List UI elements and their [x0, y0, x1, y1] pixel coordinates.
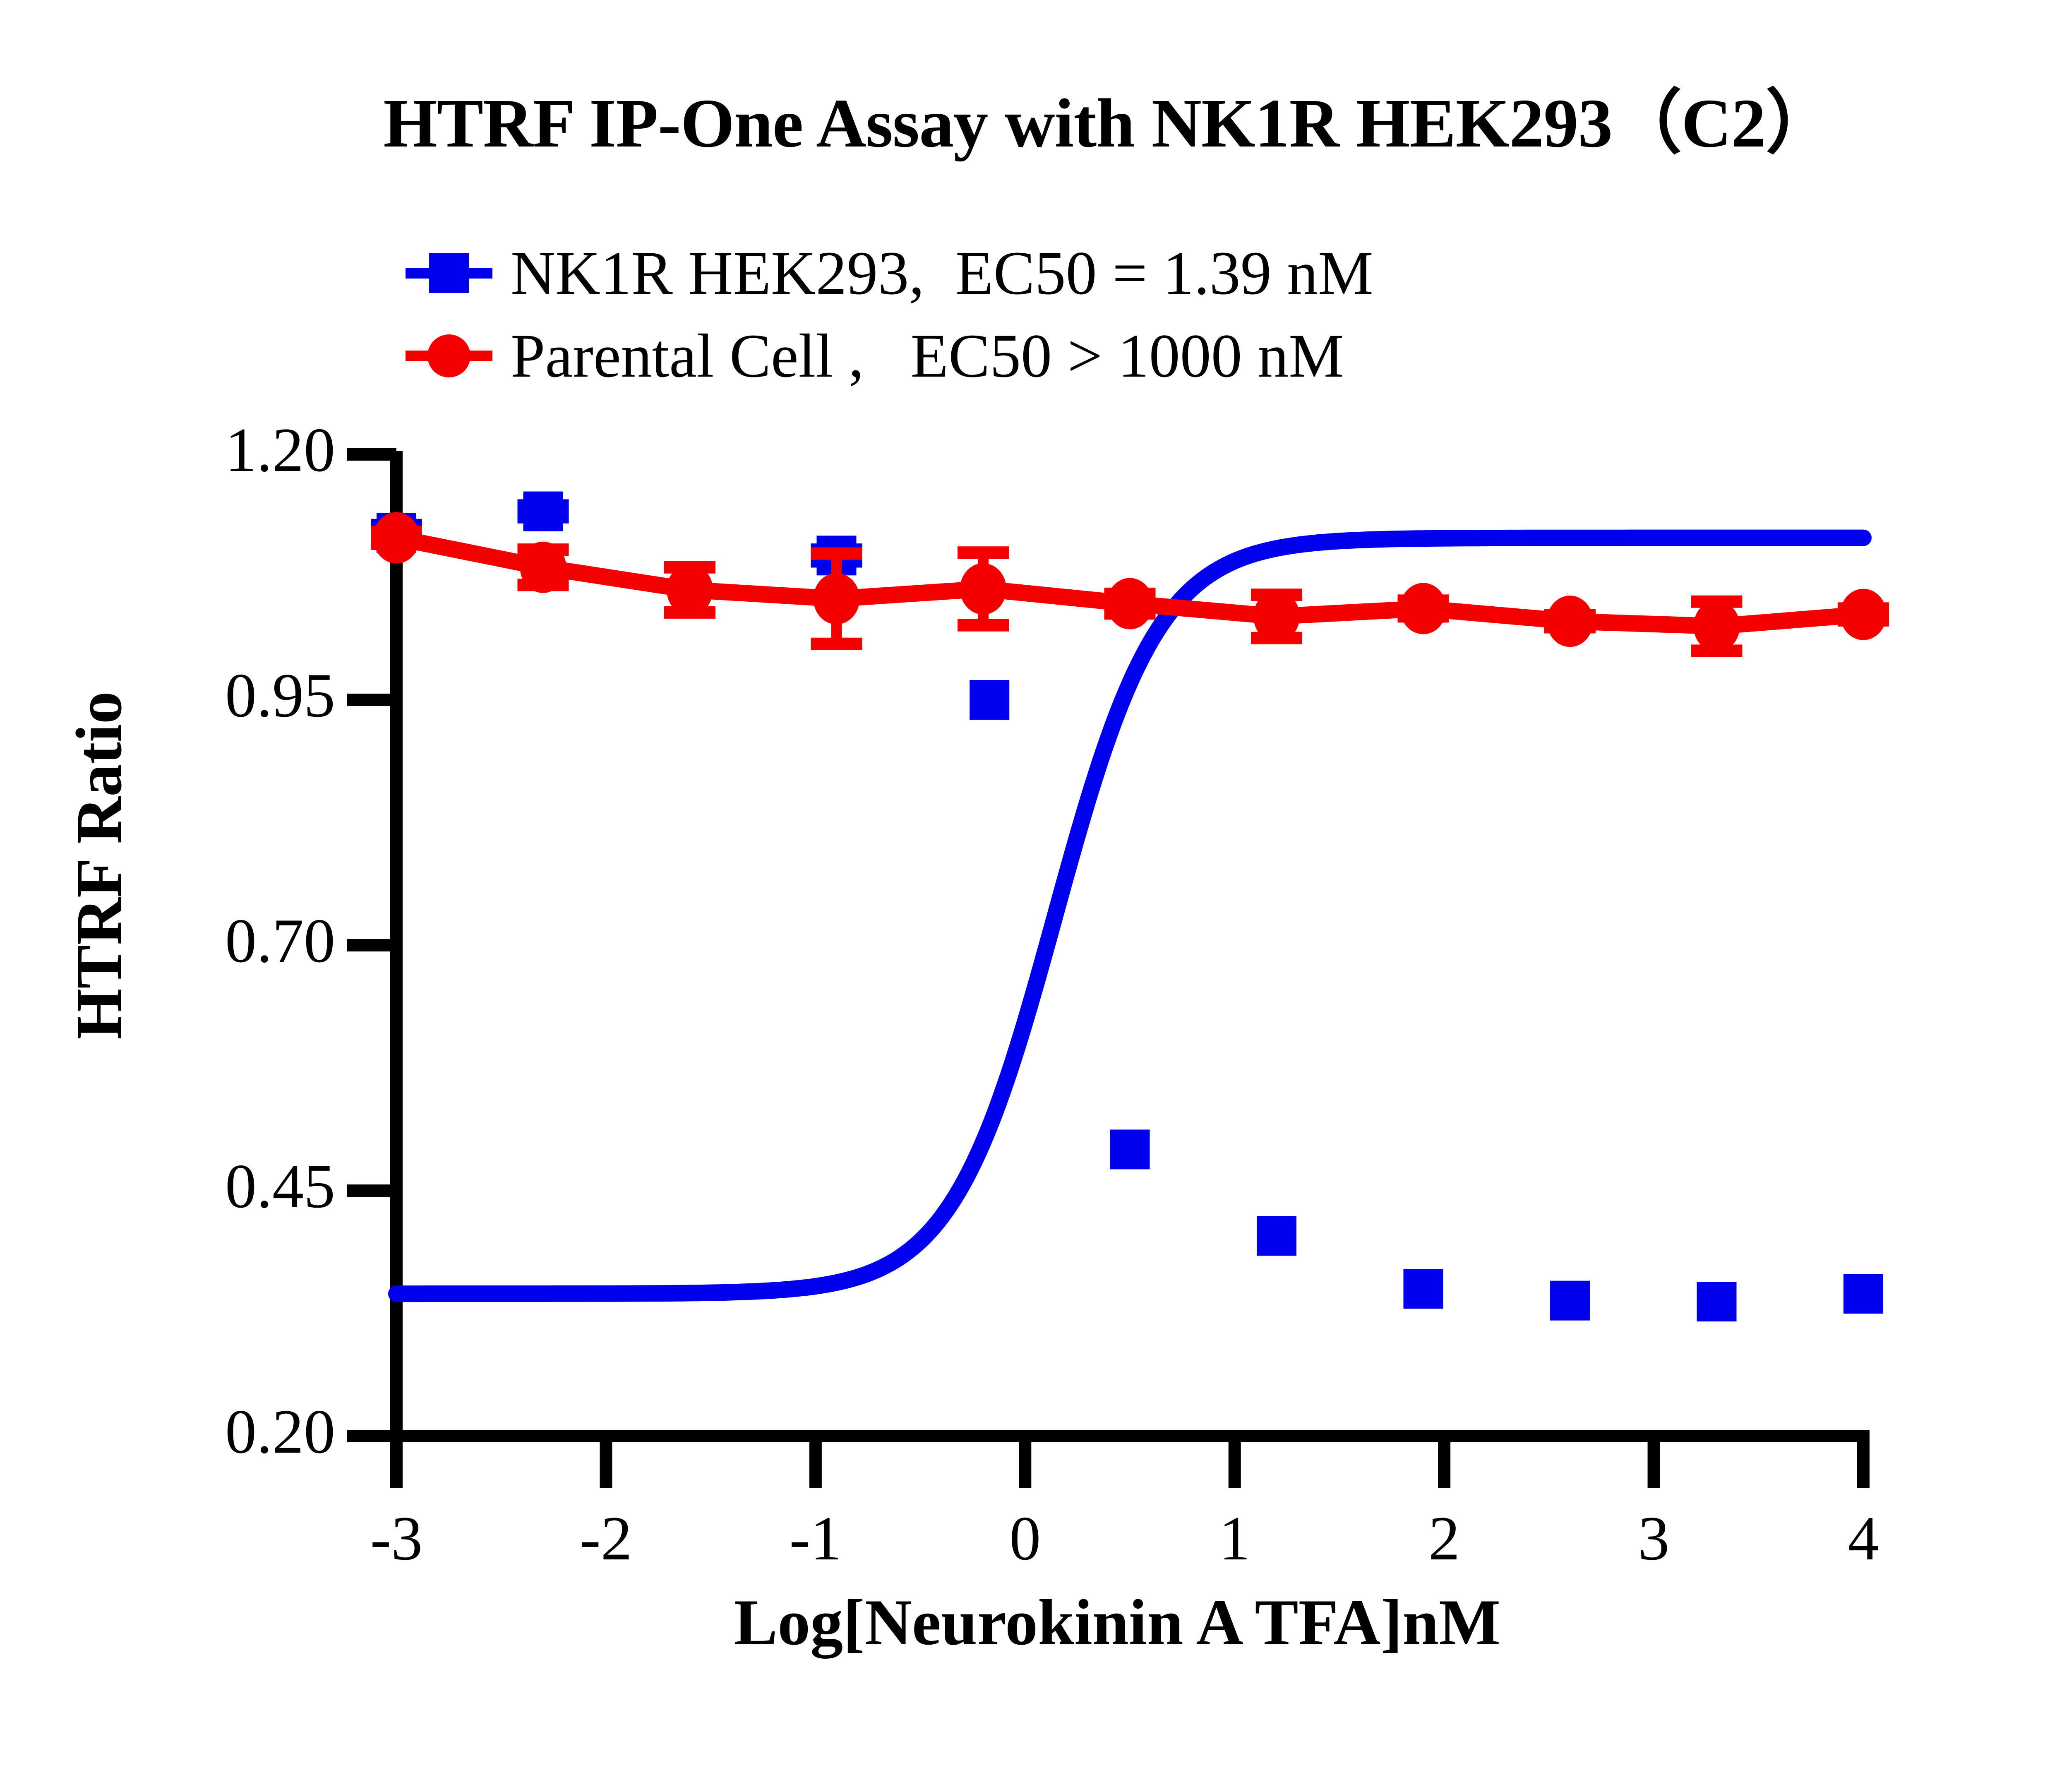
x-tick-label: -1 — [774, 1502, 857, 1574]
y-tick-label: 0.20 — [161, 1396, 335, 1468]
y-axis-title: HTRF Ratio — [62, 534, 137, 1196]
x-axis-ticks — [396, 1436, 1863, 1488]
x-tick-label: 1 — [1193, 1502, 1276, 1574]
x-tick-label: 0 — [984, 1502, 1066, 1574]
data-point-marker[interactable] — [1400, 583, 1447, 634]
data-point-marker[interactable] — [1107, 578, 1153, 629]
data-point-marker[interactable] — [1840, 589, 1887, 640]
data-point-marker[interactable] — [373, 512, 420, 564]
y-tick-label: 0.95 — [161, 659, 335, 731]
data-point-marker[interactable] — [1404, 1269, 1443, 1309]
data-point-marker[interactable] — [667, 564, 713, 615]
plot-area: 1.200.950.700.450.20 -3-2-101234 Log[Neu… — [0, 0, 2069, 1792]
data-point-marker[interactable] — [523, 492, 563, 531]
x-axis-title: Log[Neurokinin A TFA]nM — [290, 1585, 1945, 1660]
y-tick-label: 0.45 — [161, 1150, 335, 1222]
data-point-marker[interactable] — [1253, 591, 1300, 642]
data-point-marker[interactable] — [520, 542, 566, 593]
x-tick-label: 2 — [1403, 1502, 1486, 1574]
x-tick-label: -2 — [564, 1502, 647, 1574]
x-tick-label: -3 — [355, 1502, 438, 1574]
x-tick-label: 3 — [1613, 1502, 1695, 1574]
data-point-marker[interactable] — [970, 680, 1009, 720]
y-axis-ticks — [347, 454, 396, 1436]
series-curve — [396, 538, 1863, 1294]
data-point-marker[interactable] — [960, 563, 1006, 615]
data-point-marker[interactable] — [1547, 596, 1593, 647]
data-point-marker[interactable] — [1110, 1129, 1150, 1169]
data-series — [371, 492, 1889, 1321]
x-tick-label: 4 — [1822, 1502, 1905, 1574]
data-point-marker[interactable] — [1843, 1274, 1883, 1314]
chart-root: HTRF IP-One Assay with NK1R HEK293（C2） N… — [0, 0, 2069, 1792]
data-point-marker[interactable] — [1257, 1216, 1296, 1256]
data-point-marker[interactable] — [1694, 601, 1740, 652]
data-point-marker[interactable] — [1550, 1281, 1590, 1321]
data-point-marker[interactable] — [1697, 1282, 1737, 1321]
data-point-marker[interactable] — [814, 573, 860, 625]
y-tick-label: 0.70 — [161, 905, 335, 977]
y-tick-label: 1.20 — [161, 414, 335, 486]
